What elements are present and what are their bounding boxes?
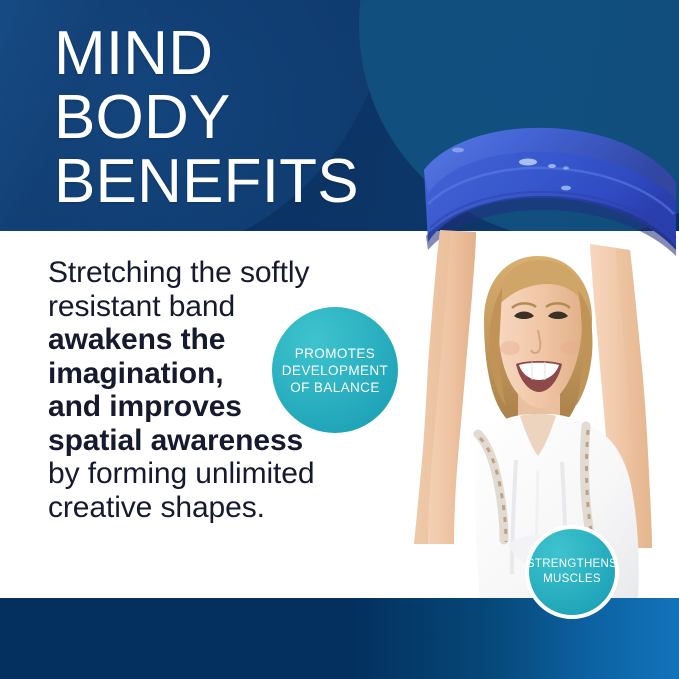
badge-strengthens-muscles: STRENGTHENS MUSCLES	[525, 525, 619, 619]
infographic-poster: MIND BODY BENEFITS	[0, 0, 679, 679]
title-line-1: MIND	[54, 22, 359, 86]
badge-balance-line-3: OF BALANCE	[282, 379, 388, 396]
copy-line-1: Stretching the softly	[48, 256, 358, 290]
title-line-3: BENEFITS	[54, 150, 359, 214]
page-title: MIND BODY BENEFITS	[54, 22, 359, 214]
title-line-2: BODY	[54, 86, 359, 150]
copy-line-8: creative shapes.	[48, 491, 358, 525]
copy-line-7: by forming unlimited	[48, 457, 358, 491]
badge-promotes-development-of-balance: PROMOTES DEVELOPMENT OF BALANCE	[272, 307, 398, 433]
badge-muscles-line-1: STRENGTHENS	[527, 557, 617, 572]
badge-balance-line-1: PROMOTES	[282, 345, 388, 362]
badge-muscles-line-2: MUSCLES	[527, 572, 617, 587]
badge-muscles-text: STRENGTHENS MUSCLES	[527, 557, 617, 587]
badge-balance-text: PROMOTES DEVELOPMENT OF BALANCE	[282, 345, 388, 396]
badge-balance-line-2: DEVELOPMENT	[282, 362, 388, 379]
product-photo-girl-with-stretch-band	[380, 104, 679, 604]
